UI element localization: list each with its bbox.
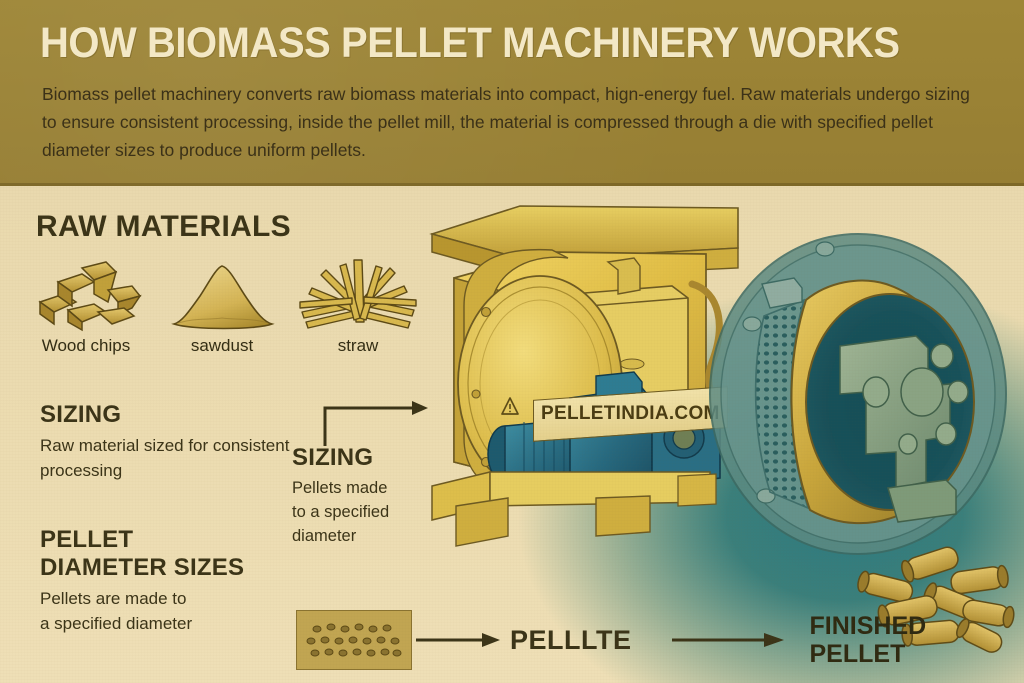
- sawdust-pile-icon: [160, 252, 284, 336]
- ring-die-cutaway-illustration: [690, 196, 1024, 596]
- latch-tab: [762, 278, 802, 308]
- sizing-elbow-arrow-icon: [320, 396, 432, 448]
- pellet-diameter-body-line1: Pellets are made to: [40, 586, 290, 611]
- raw-material-label: straw: [338, 336, 379, 356]
- raw-material-item: straw: [294, 252, 422, 356]
- sizing-left-block: SIZING Raw material sized for consistent…: [40, 401, 290, 483]
- straw-bundle-icon: [296, 252, 420, 336]
- header-band: HOW BIOMASS PELLET MACHINERY WORKS Bioma…: [0, 0, 1024, 186]
- finished-pellet-label: FINISHED PELLET: [810, 612, 927, 668]
- infographic-poster: HOW BIOMASS PELLET MACHINERY WORKS Bioma…: [0, 0, 1024, 683]
- process-flow-row: PELLLTE FINISHED PELLET: [296, 604, 876, 676]
- pellet-diameter-body-line2: a specified diameter: [40, 611, 290, 636]
- wood-chips-icon: [24, 252, 148, 336]
- raw-material-label: Wood chips: [42, 336, 131, 356]
- pellet-diameter-heading-line1: PELLET: [40, 526, 290, 554]
- raw-materials-row: Wood chips sawdust: [22, 252, 422, 356]
- sizing-mid-body-line1: Pellets made: [292, 476, 424, 500]
- sizing-mid-block: SIZING Pellets made to a specified diame…: [292, 444, 424, 548]
- pellet-diameter-heading-line2: DIAMETER SIZES: [40, 554, 290, 582]
- mill-base-skid: [432, 472, 716, 546]
- raw-material-item: Wood chips: [22, 252, 150, 356]
- finished-pellet-line2: PELLET: [810, 640, 927, 668]
- die-plate-icon: [296, 610, 412, 670]
- illustration-canvas: PELLETINDIA.COM: [0, 186, 1024, 683]
- raw-material-label: sawdust: [191, 336, 253, 356]
- sizing-left-body: Raw material sized for consistent proces…: [40, 433, 290, 483]
- header-subtitle: Biomass pellet machinery converts raw bi…: [42, 80, 988, 164]
- page-title: HOW BIOMASS PELLET MACHINERY WORKS: [40, 18, 922, 68]
- sizing-left-heading: SIZING: [40, 401, 290, 429]
- raw-material-item: sawdust: [158, 252, 286, 356]
- flow-step-label: PELLLTE: [510, 625, 632, 656]
- pellet-diameter-block: PELLET DIAMETER SIZES Pellets are made t…: [40, 526, 290, 636]
- flow-arrow-1-icon: [412, 630, 504, 650]
- finished-pellet-line1: FINISHED: [810, 612, 927, 640]
- sizing-mid-body-line3: diameter: [292, 524, 424, 548]
- sizing-mid-heading: SIZING: [292, 444, 424, 472]
- raw-materials-heading: RAW MATERIALS: [36, 210, 291, 244]
- flow-arrow-2-icon: [668, 630, 788, 650]
- sizing-mid-body-line2: to a specified: [292, 500, 424, 524]
